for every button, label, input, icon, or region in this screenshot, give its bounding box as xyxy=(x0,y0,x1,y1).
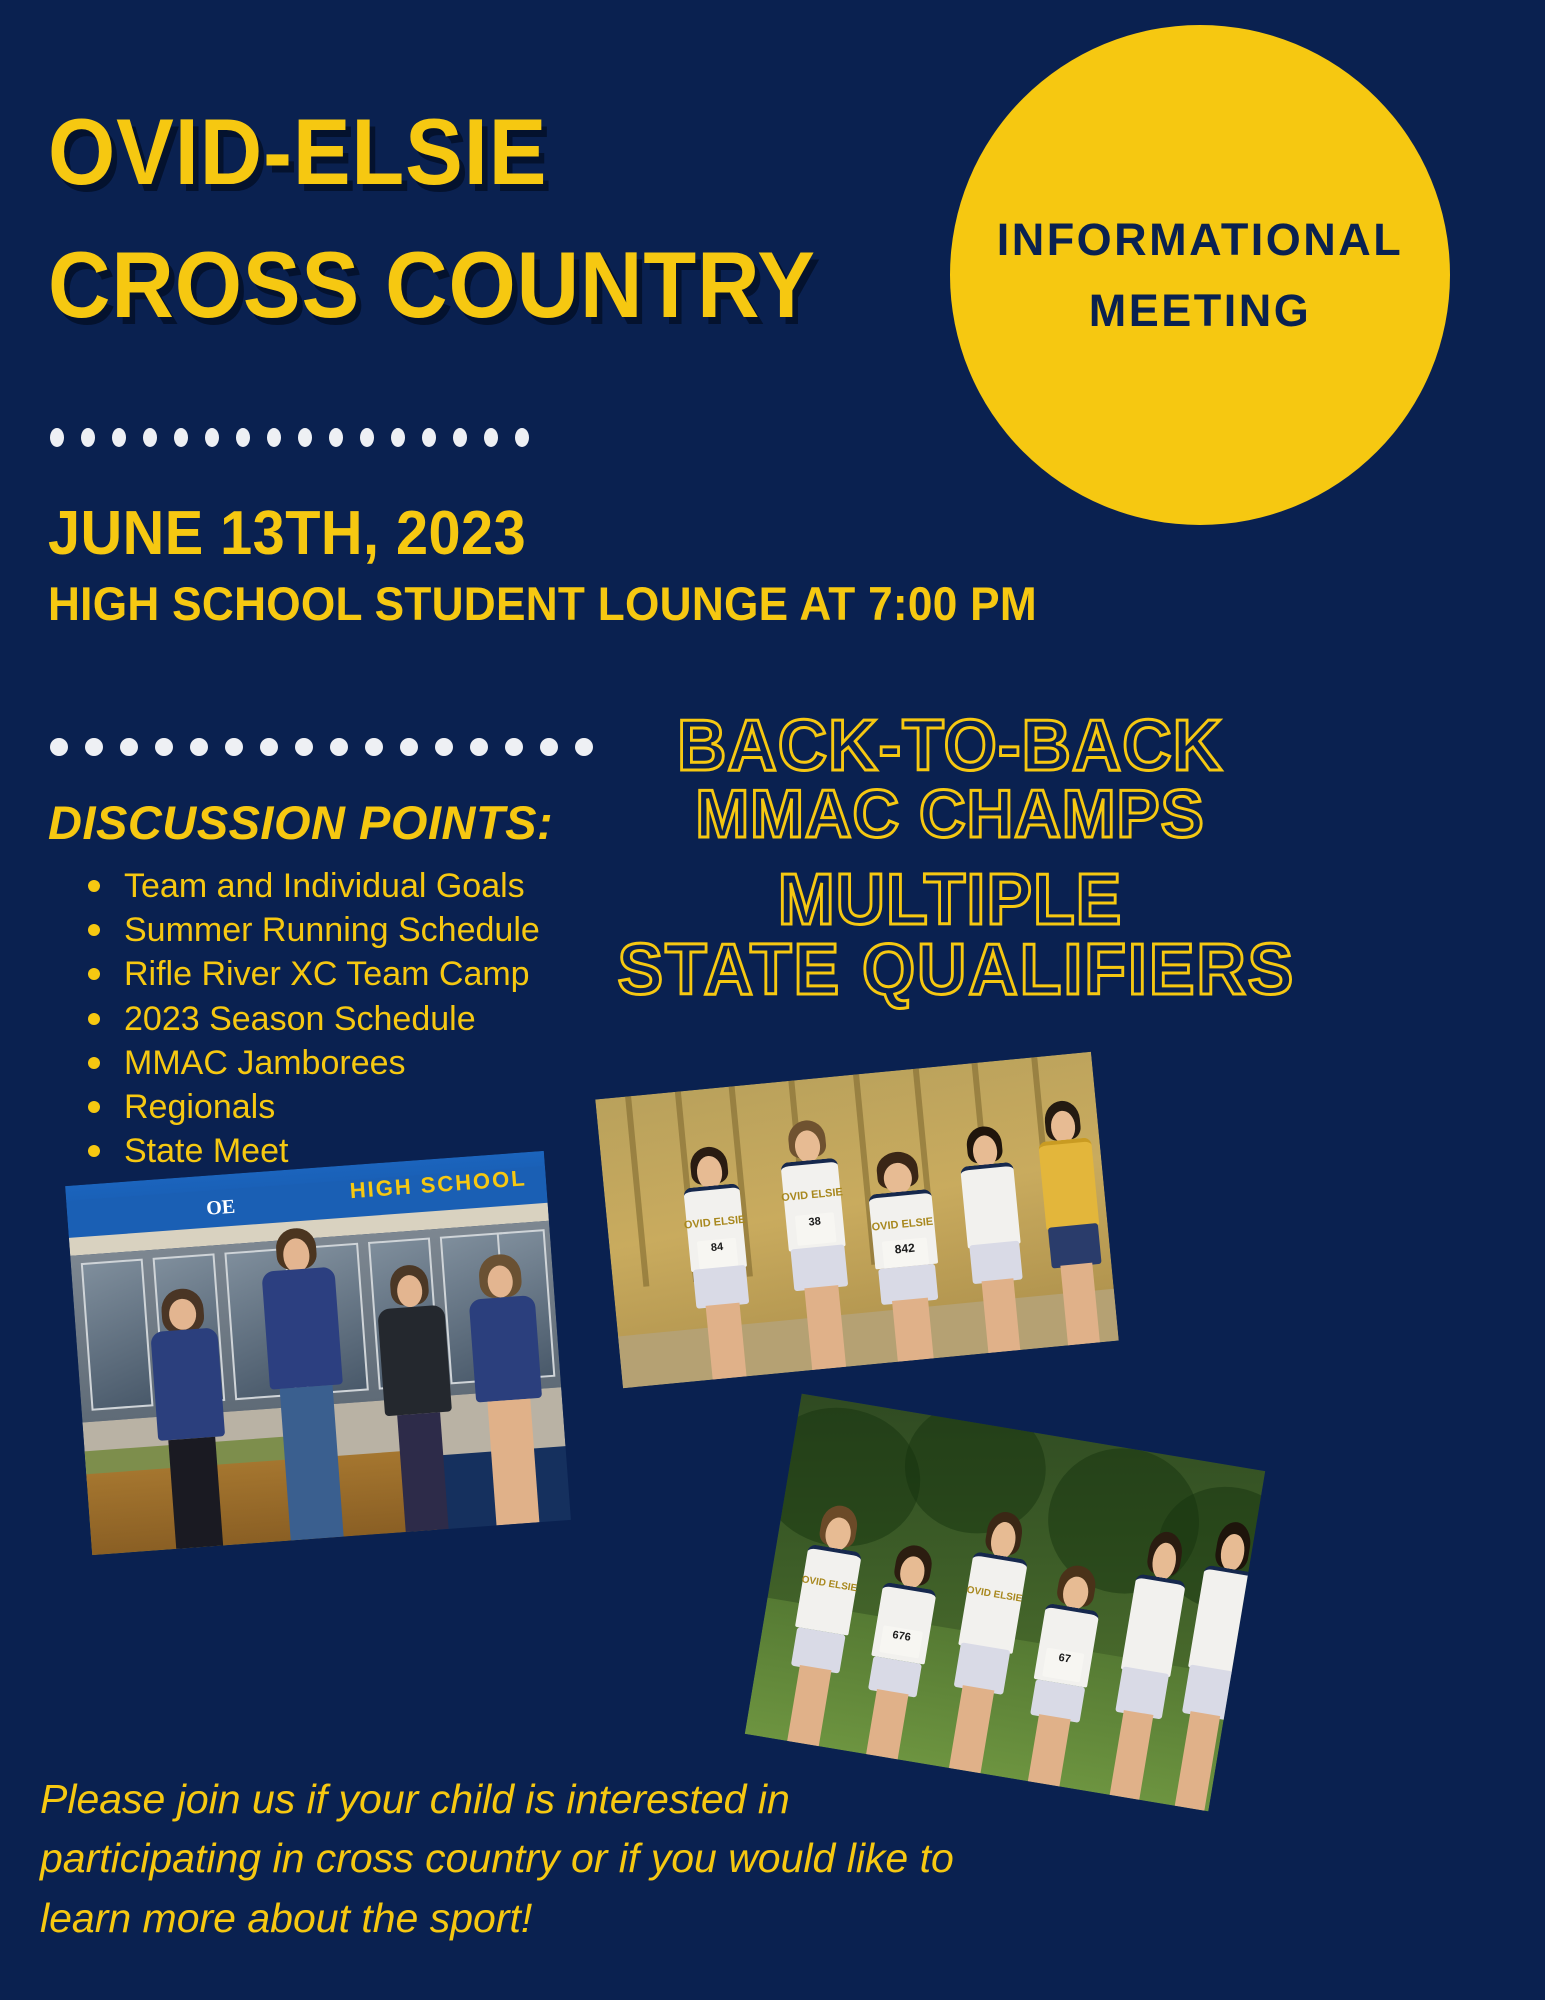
discussion-points-heading: DISCUSSION POINTS: xyxy=(48,795,688,850)
list-item: Summer Running Schedule xyxy=(88,908,688,952)
oe-logo-text: OE xyxy=(206,1196,237,1221)
discussion-points-section: DISCUSSION POINTS: Team and Individual G… xyxy=(48,795,688,1173)
achievements-section: BACK-TO-BACK MMAC CHAMPS MULTIPLE STATE … xyxy=(600,712,1300,1005)
bib-number: 84 xyxy=(697,1238,738,1269)
list-item: Rifle River XC Team Camp xyxy=(88,952,688,996)
list-item: MMAC Jamborees xyxy=(88,1041,688,1085)
photo-team-grass-field: OVID ELSIE 676 OVID ELSIE xyxy=(745,1394,1265,1812)
bib-number: 67 xyxy=(1042,1648,1085,1683)
discussion-points-list: Team and Individual Goals Summer Running… xyxy=(48,864,688,1173)
bib-number: 842 xyxy=(882,1237,929,1268)
dotted-divider-top xyxy=(50,428,529,447)
list-item: Team and Individual Goals xyxy=(88,864,688,908)
list-item: 2023 Season Schedule xyxy=(88,997,688,1041)
achievement-line-3: MULTIPLE xyxy=(618,866,1283,936)
event-venue-time: HIGH SCHOOL STUDENT LOUNGE AT 7:00 PM xyxy=(48,578,1035,630)
achievement-line-2: MMAC CHAMPS xyxy=(618,782,1283,848)
achievement-line-1: BACK-TO-BACK xyxy=(618,712,1283,782)
flyer-poster: INFORMATIONAL MEETING OVID-ELSIE CROSS C… xyxy=(0,0,1545,2000)
badge-line-1: INFORMATIONAL xyxy=(997,217,1404,262)
achievement-line-4: STATE QUALIFIERS xyxy=(618,936,1283,1006)
bib-number: 38 xyxy=(795,1213,837,1247)
event-details: JUNE 13TH, 2023 HIGH SCHOOL STUDENT LOUN… xyxy=(48,500,1098,630)
badge-line-2: MEETING xyxy=(1089,288,1312,333)
closing-paragraph: Please join us if your child is interest… xyxy=(40,1770,960,1948)
dotted-divider-middle xyxy=(50,738,593,756)
event-date: JUNE 13TH, 2023 xyxy=(48,500,1025,568)
photo-students-at-high-school: HIGH SCHOOL OE xyxy=(65,1151,571,1555)
title-line-2: CROSS COUNTRY xyxy=(48,218,876,351)
photo-team-corn-field: OVID ELSIE 84 OVID ELSIE 38 OVID ELSIE 8 xyxy=(595,1052,1119,1388)
person-figure xyxy=(135,1286,245,1551)
title-line-1: OVID-ELSIE xyxy=(48,85,876,218)
informational-meeting-badge: INFORMATIONAL MEETING xyxy=(950,25,1450,525)
page-title: OVID-ELSIE CROSS COUNTRY xyxy=(48,85,948,352)
